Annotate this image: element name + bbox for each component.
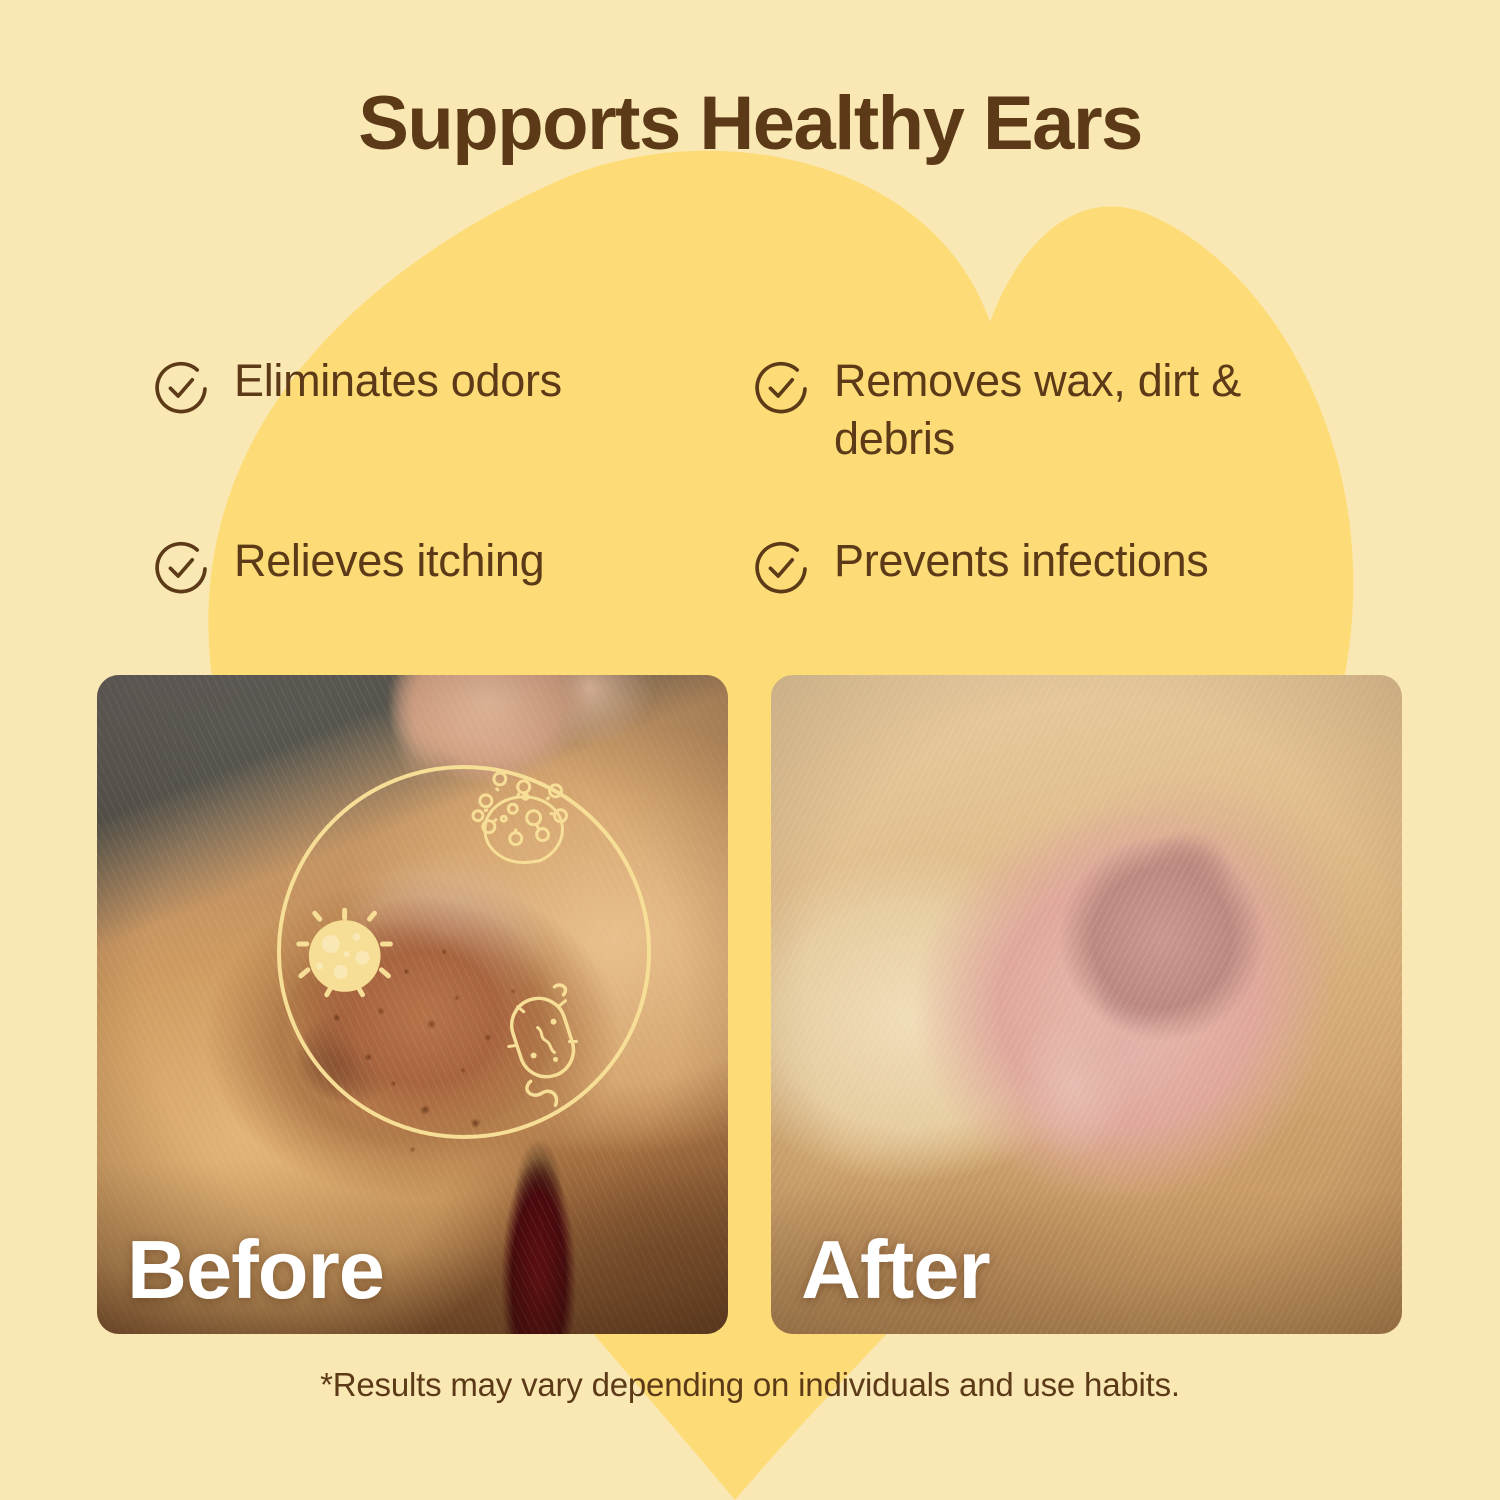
before-photo-card: Before: [97, 675, 728, 1334]
after-photo-card: After: [771, 675, 1402, 1334]
benefit-label: Eliminates odors: [234, 352, 562, 410]
product-feature-graphic: Supports Healthy Ears Eliminates odors R…: [0, 0, 1500, 1500]
benefit-item-prevents-infections: Prevents infections: [750, 532, 1360, 600]
benefits-list: Eliminates odors Removes wax, dirt & deb…: [150, 352, 1360, 600]
results-disclaimer: *Results may vary depending on individua…: [0, 1366, 1500, 1404]
before-label: Before: [127, 1222, 384, 1318]
check-circle-icon: [150, 538, 212, 600]
benefit-item-relieves-itching: Relieves itching: [150, 532, 750, 600]
benefit-label: Relieves itching: [234, 532, 544, 590]
check-circle-icon: [750, 358, 812, 420]
benefit-label: Prevents infections: [834, 532, 1209, 590]
before-after-comparison: Before After: [97, 675, 1403, 1334]
check-circle-icon: [150, 358, 212, 420]
page-title: Supports Healthy Ears: [0, 84, 1500, 164]
benefit-item-removes-wax-dirt-debris: Removes wax, dirt & debris: [750, 352, 1360, 532]
benefit-label: Removes wax, dirt & debris: [834, 352, 1354, 467]
benefit-item-eliminates-odors: Eliminates odors: [150, 352, 750, 532]
after-label: After: [801, 1222, 990, 1318]
check-circle-icon: [750, 538, 812, 600]
